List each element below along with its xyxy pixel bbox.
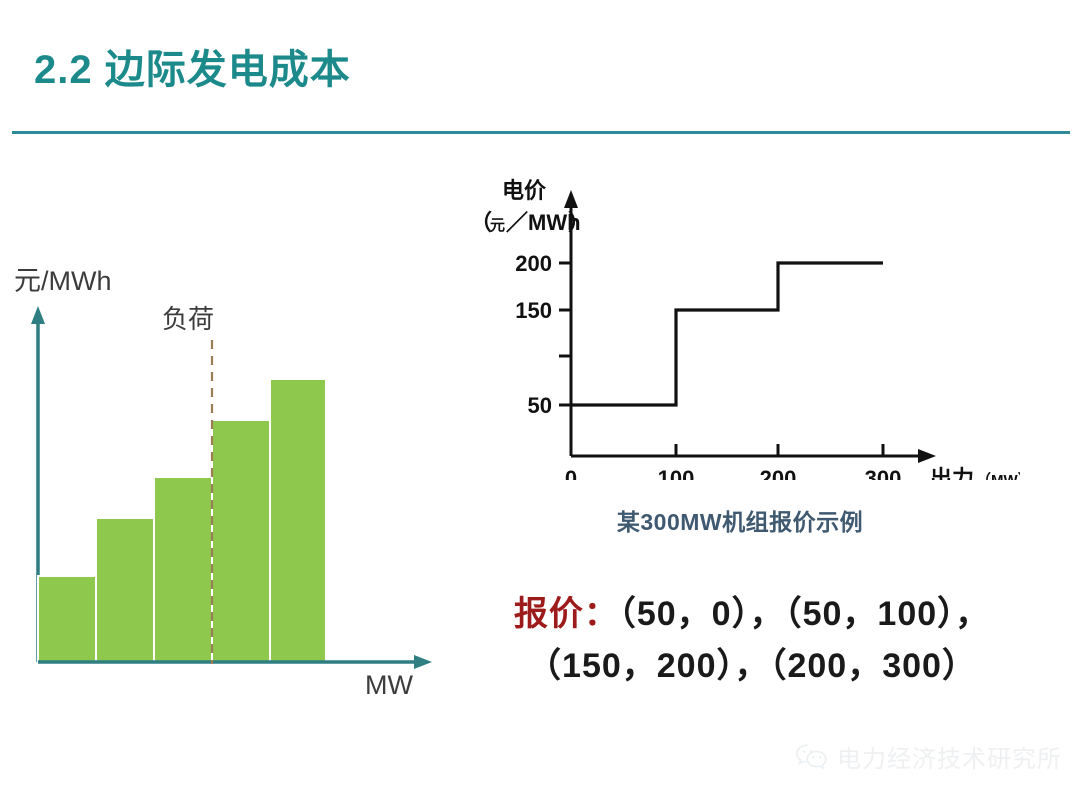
bar-item [38, 576, 96, 662]
bar-item [270, 379, 326, 662]
bar-chart-x-axis-label: MW [365, 670, 413, 700]
step-chart-x-axis-unit: （MW） [976, 471, 1020, 480]
bid-quote-label: 报价： [514, 595, 619, 633]
bid-quote-line-2: （150，200），（200，300） [452, 640, 1052, 692]
bar-chart-y-axis-arrow-icon [31, 306, 45, 324]
step-chart-y-tick-label: 200 [515, 251, 552, 276]
watermark-text: 电力经济技术研究所 [837, 739, 1062, 774]
wechat-icon [795, 743, 829, 771]
step-chart-x-tick-label: 300 [865, 466, 902, 480]
load-label: 负荷 [162, 304, 214, 334]
step-chart-x-tick-label: 0 [565, 466, 577, 480]
step-chart-x-axis-arrow-icon [918, 449, 936, 463]
bid-curve-step-chart: 电价 （ 元 ／MWh ） 200 150 50 0 [460, 170, 1020, 480]
bid-quote-block: 报价：（50，0），（50，100）， （150，200），（200，300） [452, 588, 1052, 692]
step-chart-y-tick-label: 150 [515, 298, 552, 323]
step-chart-caption: 某300MW机组报价示例 [460, 503, 1020, 537]
bid-quote-values-1: （50，0），（50，100）， [619, 595, 990, 633]
bar-item [96, 518, 154, 662]
step-chart-y-tick-label: 50 [528, 393, 552, 418]
slide-canvas: 2.2 边际发电成本 元/MWh 负荷 MW [0, 0, 1080, 810]
bar-item [154, 477, 212, 662]
bar-chart-x-axis-arrow-icon [414, 655, 432, 669]
step-chart-y-axis-title: 电价 [502, 178, 547, 203]
title-divider [12, 131, 1070, 134]
step-chart-y-axis-arrow-icon [564, 190, 578, 208]
step-chart-x-tick-label: 200 [760, 466, 797, 480]
bar-item [212, 420, 270, 662]
bar-chart-y-axis-label: 元/MWh [14, 266, 112, 296]
bid-quote-line-1: 报价：（50，0），（50，100）， [452, 588, 1052, 640]
step-chart-x-tick-label: 100 [658, 466, 695, 480]
step-chart-x-axis-title: 出力 [930, 466, 974, 480]
page-title: 2.2 边际发电成本 [34, 48, 351, 92]
marginal-cost-bar-chart: 元/MWh 负荷 MW [0, 250, 450, 710]
step-chart-y-unit-yuan: 元 [490, 217, 505, 234]
watermark: 电力经济技术研究所 [795, 739, 1062, 774]
step-chart-y-unit-open: （ [470, 210, 492, 235]
bid-step-curve [571, 263, 883, 405]
